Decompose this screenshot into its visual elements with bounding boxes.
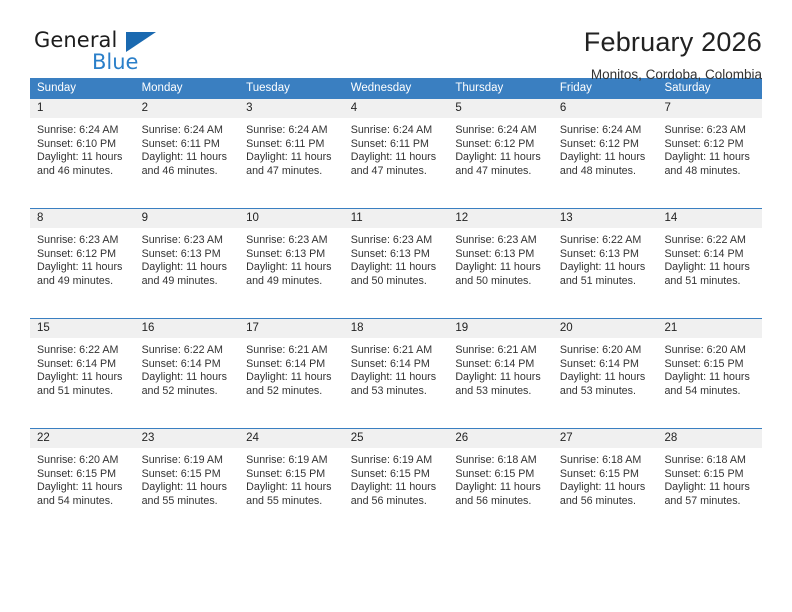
day-number: 8 (30, 209, 135, 228)
daylight-text: Daylight: 11 hours and 53 minutes. (351, 371, 447, 398)
day-cell[interactable]: 23 Sunrise: 6:19 AM Sunset: 6:15 PM Dayl… (135, 429, 240, 526)
day-cell[interactable]: 24 Sunrise: 6:19 AM Sunset: 6:15 PM Dayl… (239, 429, 344, 526)
sunset-text: Sunset: 6:14 PM (560, 358, 652, 372)
sunset-text: Sunset: 6:12 PM (664, 138, 756, 152)
daylight-text: Daylight: 11 hours and 52 minutes. (142, 371, 238, 398)
day-number: 6 (553, 99, 658, 118)
day-details: Sunrise: 6:21 AM Sunset: 6:14 PM Dayligh… (448, 338, 553, 416)
day-cell[interactable]: 14 Sunrise: 6:22 AM Sunset: 6:14 PM Dayl… (657, 209, 762, 306)
day-details: Sunrise: 6:22 AM Sunset: 6:14 PM Dayligh… (30, 338, 135, 416)
daylight-text: Daylight: 11 hours and 54 minutes. (664, 371, 760, 398)
sunrise-text: Sunrise: 6:24 AM (560, 124, 652, 138)
day-details: Sunrise: 6:22 AM Sunset: 6:14 PM Dayligh… (135, 338, 240, 416)
sunset-text: Sunset: 6:15 PM (142, 468, 234, 482)
day-details: Sunrise: 6:19 AM Sunset: 6:15 PM Dayligh… (239, 448, 344, 526)
day-cell[interactable]: 2 Sunrise: 6:24 AM Sunset: 6:11 PM Dayli… (135, 99, 240, 196)
page-title: February 2026 (584, 28, 762, 58)
daylight-text: Daylight: 11 hours and 56 minutes. (351, 481, 447, 508)
day-cell[interactable]: 8 Sunrise: 6:23 AM Sunset: 6:12 PM Dayli… (30, 209, 135, 306)
sunrise-text: Sunrise: 6:24 AM (142, 124, 234, 138)
sunset-text: Sunset: 6:15 PM (664, 358, 756, 372)
day-cell[interactable]: 11 Sunrise: 6:23 AM Sunset: 6:13 PM Dayl… (344, 209, 449, 306)
day-details: Sunrise: 6:24 AM Sunset: 6:11 PM Dayligh… (135, 118, 240, 196)
day-number: 11 (344, 209, 449, 228)
sunset-text: Sunset: 6:13 PM (560, 248, 652, 262)
sunrise-text: Sunrise: 6:24 AM (455, 124, 547, 138)
daylight-text: Daylight: 11 hours and 47 minutes. (455, 151, 551, 178)
day-number: 22 (30, 429, 135, 448)
day-number: 24 (239, 429, 344, 448)
day-number: 21 (657, 319, 762, 338)
day-number: 23 (135, 429, 240, 448)
sunset-text: Sunset: 6:15 PM (560, 468, 652, 482)
sunset-text: Sunset: 6:15 PM (351, 468, 443, 482)
daylight-text: Daylight: 11 hours and 51 minutes. (560, 261, 656, 288)
day-cell[interactable]: 26 Sunrise: 6:18 AM Sunset: 6:15 PM Dayl… (448, 429, 553, 526)
day-number: 25 (344, 429, 449, 448)
day-details: Sunrise: 6:19 AM Sunset: 6:15 PM Dayligh… (344, 448, 449, 526)
day-cell[interactable]: 20 Sunrise: 6:20 AM Sunset: 6:14 PM Dayl… (553, 319, 658, 416)
day-details: Sunrise: 6:18 AM Sunset: 6:15 PM Dayligh… (553, 448, 658, 526)
sunset-text: Sunset: 6:14 PM (455, 358, 547, 372)
daylight-text: Daylight: 11 hours and 47 minutes. (246, 151, 342, 178)
day-cell[interactable]: 15 Sunrise: 6:22 AM Sunset: 6:14 PM Dayl… (30, 319, 135, 416)
weekday-header-friday: Friday (553, 78, 658, 99)
day-cell[interactable]: 17 Sunrise: 6:21 AM Sunset: 6:14 PM Dayl… (239, 319, 344, 416)
sunrise-text: Sunrise: 6:21 AM (455, 344, 547, 358)
day-cell[interactable]: 18 Sunrise: 6:21 AM Sunset: 6:14 PM Dayl… (344, 319, 449, 416)
day-number: 18 (344, 319, 449, 338)
daylight-text: Daylight: 11 hours and 48 minutes. (664, 151, 760, 178)
day-number: 1 (30, 99, 135, 118)
page-header: General Blue February 2026 Monitos, Cord… (30, 0, 762, 66)
day-details: Sunrise: 6:22 AM Sunset: 6:14 PM Dayligh… (657, 228, 762, 306)
day-details: Sunrise: 6:23 AM Sunset: 6:12 PM Dayligh… (657, 118, 762, 196)
calendar-grid: Sunday Monday Tuesday Wednesday Thursday… (30, 78, 762, 526)
daylight-text: Daylight: 11 hours and 46 minutes. (37, 151, 133, 178)
calendar-week-row: 15 Sunrise: 6:22 AM Sunset: 6:14 PM Dayl… (30, 318, 762, 416)
sunrise-text: Sunrise: 6:23 AM (142, 234, 234, 248)
sunset-text: Sunset: 6:15 PM (455, 468, 547, 482)
day-details: Sunrise: 6:21 AM Sunset: 6:14 PM Dayligh… (239, 338, 344, 416)
sunset-text: Sunset: 6:11 PM (142, 138, 234, 152)
daylight-text: Daylight: 11 hours and 47 minutes. (351, 151, 447, 178)
day-details: Sunrise: 6:23 AM Sunset: 6:13 PM Dayligh… (135, 228, 240, 306)
day-number: 5 (448, 99, 553, 118)
daylight-text: Daylight: 11 hours and 54 minutes. (37, 481, 133, 508)
daylight-text: Daylight: 11 hours and 53 minutes. (455, 371, 551, 398)
day-number: 19 (448, 319, 553, 338)
sunset-text: Sunset: 6:14 PM (37, 358, 129, 372)
day-cell[interactable]: 19 Sunrise: 6:21 AM Sunset: 6:14 PM Dayl… (448, 319, 553, 416)
day-cell[interactable]: 12 Sunrise: 6:23 AM Sunset: 6:13 PM Dayl… (448, 209, 553, 306)
weekday-header-saturday: Saturday (657, 78, 762, 99)
sunrise-text: Sunrise: 6:23 AM (455, 234, 547, 248)
daylight-text: Daylight: 11 hours and 57 minutes. (664, 481, 760, 508)
day-details: Sunrise: 6:20 AM Sunset: 6:14 PM Dayligh… (553, 338, 658, 416)
daylight-text: Daylight: 11 hours and 50 minutes. (455, 261, 551, 288)
weekday-header-sunday: Sunday (30, 78, 135, 99)
sunrise-text: Sunrise: 6:24 AM (37, 124, 129, 138)
day-details: Sunrise: 6:20 AM Sunset: 6:15 PM Dayligh… (657, 338, 762, 416)
daylight-text: Daylight: 11 hours and 53 minutes. (560, 371, 656, 398)
weekday-header-monday: Monday (135, 78, 240, 99)
daylight-text: Daylight: 11 hours and 51 minutes. (664, 261, 760, 288)
day-details: Sunrise: 6:18 AM Sunset: 6:15 PM Dayligh… (657, 448, 762, 526)
calendar-page: General Blue February 2026 Monitos, Cord… (0, 0, 792, 612)
day-number: 14 (657, 209, 762, 228)
brand-logo[interactable]: General Blue (30, 28, 190, 78)
day-number: 2 (135, 99, 240, 118)
day-cell[interactable]: 7 Sunrise: 6:23 AM Sunset: 6:12 PM Dayli… (657, 99, 762, 196)
sunrise-text: Sunrise: 6:21 AM (351, 344, 443, 358)
sunset-text: Sunset: 6:11 PM (351, 138, 443, 152)
sunrise-text: Sunrise: 6:23 AM (664, 124, 756, 138)
day-cell[interactable]: 25 Sunrise: 6:19 AM Sunset: 6:15 PM Dayl… (344, 429, 449, 526)
day-cell[interactable]: 22 Sunrise: 6:20 AM Sunset: 6:15 PM Dayl… (30, 429, 135, 526)
sunrise-text: Sunrise: 6:19 AM (142, 454, 234, 468)
day-details: Sunrise: 6:19 AM Sunset: 6:15 PM Dayligh… (135, 448, 240, 526)
weekday-header-thursday: Thursday (448, 78, 553, 99)
sunrise-text: Sunrise: 6:22 AM (664, 234, 756, 248)
weekday-header-row: Sunday Monday Tuesday Wednesday Thursday… (30, 78, 762, 99)
sunrise-text: Sunrise: 6:18 AM (455, 454, 547, 468)
sunrise-text: Sunrise: 6:23 AM (37, 234, 129, 248)
sunrise-text: Sunrise: 6:24 AM (351, 124, 443, 138)
sunset-text: Sunset: 6:10 PM (37, 138, 129, 152)
day-number: 7 (657, 99, 762, 118)
sunset-text: Sunset: 6:13 PM (246, 248, 338, 262)
day-number: 10 (239, 209, 344, 228)
day-details: Sunrise: 6:24 AM Sunset: 6:11 PM Dayligh… (344, 118, 449, 196)
day-details: Sunrise: 6:23 AM Sunset: 6:13 PM Dayligh… (448, 228, 553, 306)
day-details: Sunrise: 6:20 AM Sunset: 6:15 PM Dayligh… (30, 448, 135, 526)
daylight-text: Daylight: 11 hours and 55 minutes. (142, 481, 238, 508)
day-cell[interactable]: 28 Sunrise: 6:18 AM Sunset: 6:15 PM Dayl… (657, 429, 762, 526)
day-cell[interactable]: 5 Sunrise: 6:24 AM Sunset: 6:12 PM Dayli… (448, 99, 553, 196)
day-number: 9 (135, 209, 240, 228)
day-number: 15 (30, 319, 135, 338)
brand-name-general: General (34, 30, 117, 51)
day-number: 13 (553, 209, 658, 228)
daylight-text: Daylight: 11 hours and 49 minutes. (246, 261, 342, 288)
sunset-text: Sunset: 6:12 PM (560, 138, 652, 152)
day-cell[interactable]: 3 Sunrise: 6:24 AM Sunset: 6:11 PM Dayli… (239, 99, 344, 196)
sunset-text: Sunset: 6:12 PM (37, 248, 129, 262)
day-cell[interactable]: 10 Sunrise: 6:23 AM Sunset: 6:13 PM Dayl… (239, 209, 344, 306)
sunset-text: Sunset: 6:12 PM (455, 138, 547, 152)
sunrise-text: Sunrise: 6:20 AM (37, 454, 129, 468)
brand-name-blue: Blue (92, 52, 138, 73)
day-cell[interactable]: 21 Sunrise: 6:20 AM Sunset: 6:15 PM Dayl… (657, 319, 762, 416)
daylight-text: Daylight: 11 hours and 49 minutes. (37, 261, 133, 288)
calendar-week-row: 1 Sunrise: 6:24 AM Sunset: 6:10 PM Dayli… (30, 99, 762, 196)
daylight-text: Daylight: 11 hours and 55 minutes. (246, 481, 342, 508)
sunset-text: Sunset: 6:11 PM (246, 138, 338, 152)
sunrise-text: Sunrise: 6:22 AM (142, 344, 234, 358)
sunrise-text: Sunrise: 6:23 AM (246, 234, 338, 248)
day-cell[interactable]: 6 Sunrise: 6:24 AM Sunset: 6:12 PM Dayli… (553, 99, 658, 196)
day-details: Sunrise: 6:18 AM Sunset: 6:15 PM Dayligh… (448, 448, 553, 526)
day-cell[interactable]: 1 Sunrise: 6:24 AM Sunset: 6:10 PM Dayli… (30, 99, 135, 196)
daylight-text: Daylight: 11 hours and 49 minutes. (142, 261, 238, 288)
sunrise-text: Sunrise: 6:23 AM (351, 234, 443, 248)
daylight-text: Daylight: 11 hours and 56 minutes. (560, 481, 656, 508)
day-details: Sunrise: 6:23 AM Sunset: 6:13 PM Dayligh… (344, 228, 449, 306)
daylight-text: Daylight: 11 hours and 51 minutes. (37, 371, 133, 398)
sunset-text: Sunset: 6:13 PM (455, 248, 547, 262)
sunrise-text: Sunrise: 6:22 AM (37, 344, 129, 358)
sunset-text: Sunset: 6:13 PM (142, 248, 234, 262)
sunset-text: Sunset: 6:13 PM (351, 248, 443, 262)
triangle-icon (126, 32, 156, 52)
sunset-text: Sunset: 6:14 PM (246, 358, 338, 372)
day-number: 20 (553, 319, 658, 338)
day-number: 28 (657, 429, 762, 448)
day-number: 27 (553, 429, 658, 448)
day-cell[interactable]: 13 Sunrise: 6:22 AM Sunset: 6:13 PM Dayl… (553, 209, 658, 306)
day-number: 3 (239, 99, 344, 118)
sunrise-text: Sunrise: 6:22 AM (560, 234, 652, 248)
sunrise-text: Sunrise: 6:20 AM (560, 344, 652, 358)
sunrise-text: Sunrise: 6:18 AM (560, 454, 652, 468)
title-block: February 2026 Monitos, Cordoba, Colombia (584, 28, 762, 82)
day-details: Sunrise: 6:24 AM Sunset: 6:10 PM Dayligh… (30, 118, 135, 196)
daylight-text: Daylight: 11 hours and 52 minutes. (246, 371, 342, 398)
weekday-header-wednesday: Wednesday (344, 78, 449, 99)
day-details: Sunrise: 6:24 AM Sunset: 6:11 PM Dayligh… (239, 118, 344, 196)
sunrise-text: Sunrise: 6:19 AM (351, 454, 443, 468)
daylight-text: Daylight: 11 hours and 48 minutes. (560, 151, 656, 178)
day-details: Sunrise: 6:24 AM Sunset: 6:12 PM Dayligh… (448, 118, 553, 196)
sunset-text: Sunset: 6:15 PM (664, 468, 756, 482)
day-details: Sunrise: 6:22 AM Sunset: 6:13 PM Dayligh… (553, 228, 658, 306)
day-number: 16 (135, 319, 240, 338)
daylight-text: Daylight: 11 hours and 56 minutes. (455, 481, 551, 508)
day-cell[interactable]: 9 Sunrise: 6:23 AM Sunset: 6:13 PM Dayli… (135, 209, 240, 306)
sunset-text: Sunset: 6:14 PM (142, 358, 234, 372)
day-details: Sunrise: 6:23 AM Sunset: 6:12 PM Dayligh… (30, 228, 135, 306)
sunrise-text: Sunrise: 6:24 AM (246, 124, 338, 138)
daylight-text: Daylight: 11 hours and 46 minutes. (142, 151, 238, 178)
day-details: Sunrise: 6:21 AM Sunset: 6:14 PM Dayligh… (344, 338, 449, 416)
daylight-text: Daylight: 11 hours and 50 minutes. (351, 261, 447, 288)
sunrise-text: Sunrise: 6:20 AM (664, 344, 756, 358)
day-number: 17 (239, 319, 344, 338)
sunset-text: Sunset: 6:15 PM (37, 468, 129, 482)
sunrise-text: Sunrise: 6:21 AM (246, 344, 338, 358)
sunrise-text: Sunrise: 6:18 AM (664, 454, 756, 468)
weekday-header-tuesday: Tuesday (239, 78, 344, 99)
calendar-week-row: 22 Sunrise: 6:20 AM Sunset: 6:15 PM Dayl… (30, 428, 762, 526)
day-number: 12 (448, 209, 553, 228)
day-cell[interactable]: 4 Sunrise: 6:24 AM Sunset: 6:11 PM Dayli… (344, 99, 449, 196)
day-details: Sunrise: 6:24 AM Sunset: 6:12 PM Dayligh… (553, 118, 658, 196)
sunset-text: Sunset: 6:15 PM (246, 468, 338, 482)
day-details: Sunrise: 6:23 AM Sunset: 6:13 PM Dayligh… (239, 228, 344, 306)
sunset-text: Sunset: 6:14 PM (664, 248, 756, 262)
day-cell[interactable]: 27 Sunrise: 6:18 AM Sunset: 6:15 PM Dayl… (553, 429, 658, 526)
day-number: 26 (448, 429, 553, 448)
sunrise-text: Sunrise: 6:19 AM (246, 454, 338, 468)
calendar-week-row: 8 Sunrise: 6:23 AM Sunset: 6:12 PM Dayli… (30, 208, 762, 306)
sunset-text: Sunset: 6:14 PM (351, 358, 443, 372)
day-number: 4 (344, 99, 449, 118)
day-cell[interactable]: 16 Sunrise: 6:22 AM Sunset: 6:14 PM Dayl… (135, 319, 240, 416)
